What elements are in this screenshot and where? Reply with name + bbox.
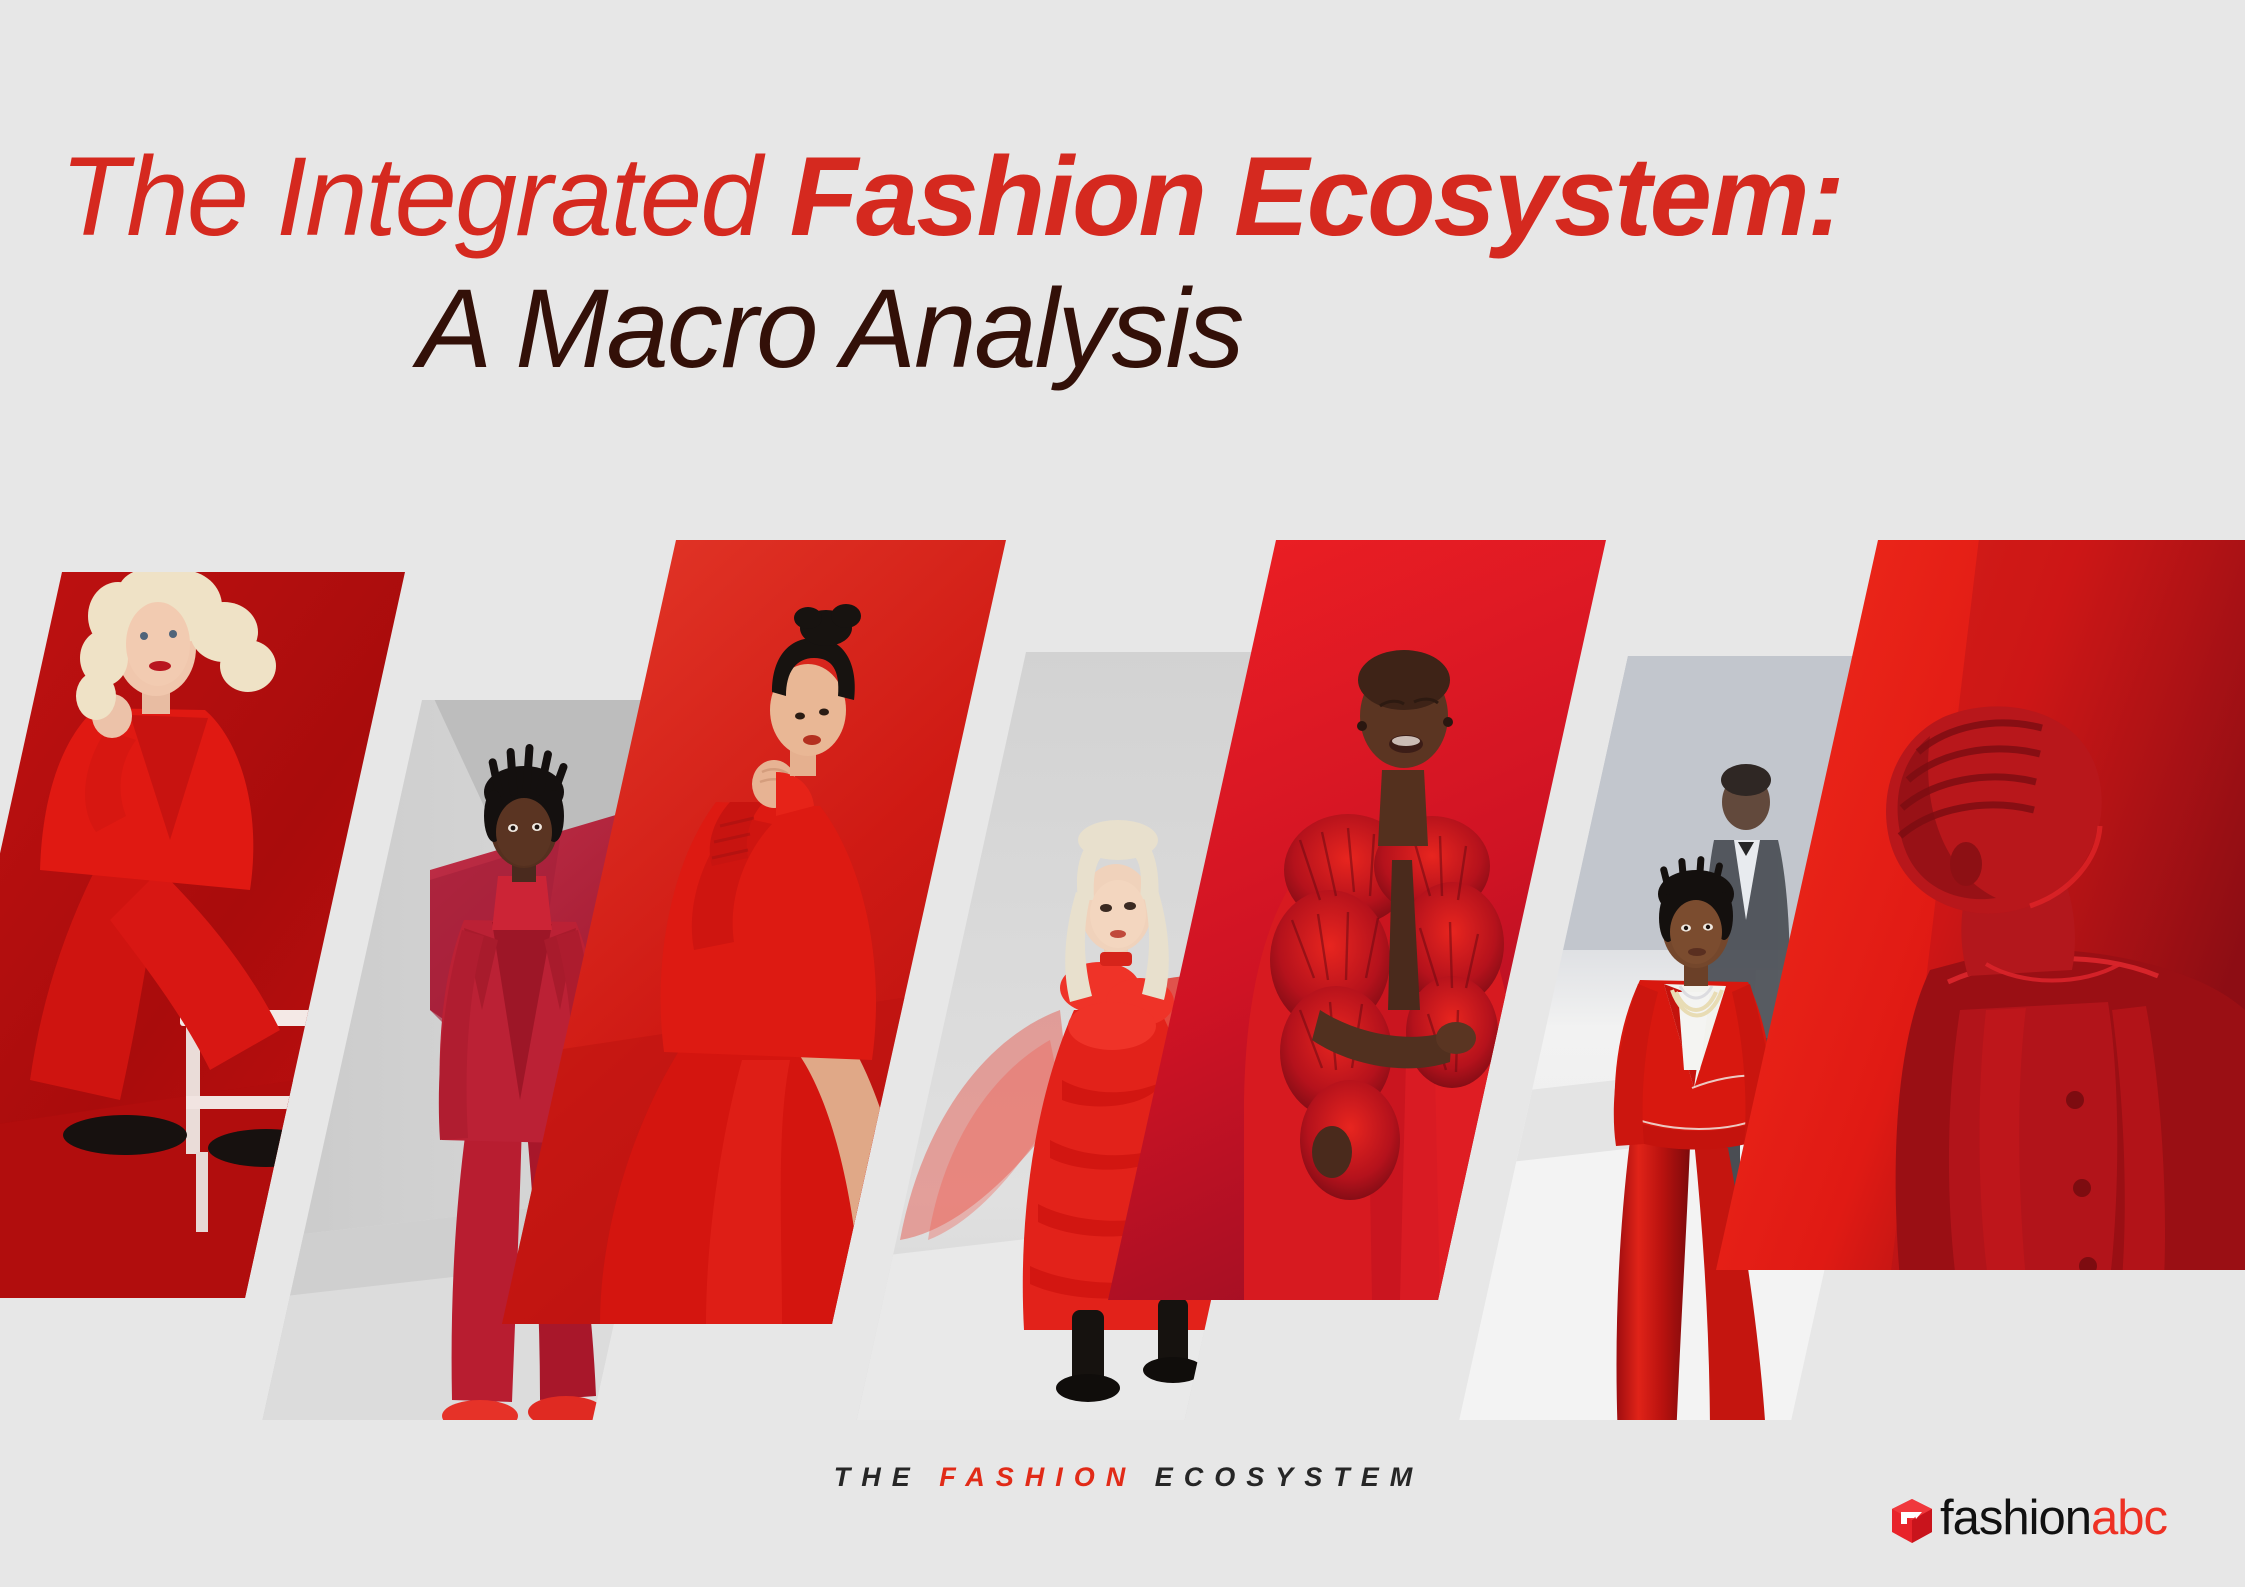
- title-light-part: The Integrated: [60, 134, 790, 259]
- title-bold-part: Fashion Ecosystem:: [790, 134, 1843, 259]
- fashionabc-cube-logo-icon: [1890, 1498, 1934, 1544]
- logo-wordmark: fashionabc: [1940, 1494, 2167, 1547]
- poster-canvas: The Integrated Fashion Ecosystem: A Macr…: [0, 0, 2245, 1587]
- logo-text-fashion: fashion: [1940, 1491, 2091, 1545]
- footer-tagline: THE FASHION ECOSYSTEM: [0, 1462, 2245, 1493]
- tagline-highlight: FASHION: [939, 1462, 1136, 1492]
- strip-svg: [0, 540, 2245, 1420]
- title-line-primary: The Integrated Fashion Ecosystem:: [0, 140, 1760, 254]
- tagline-pre: THE: [834, 1462, 940, 1492]
- fashionabc-logo[interactable]: fashionabc: [1890, 1494, 2167, 1547]
- fashion-image-strip: [0, 540, 2245, 1420]
- logo-text-abc: abc: [2091, 1491, 2167, 1545]
- title-line-subtitle: A Macro Analysis: [0, 272, 1760, 386]
- tagline-post: ECOSYSTEM: [1136, 1462, 1423, 1492]
- page-title: The Integrated Fashion Ecosystem: A Macr…: [0, 140, 1760, 386]
